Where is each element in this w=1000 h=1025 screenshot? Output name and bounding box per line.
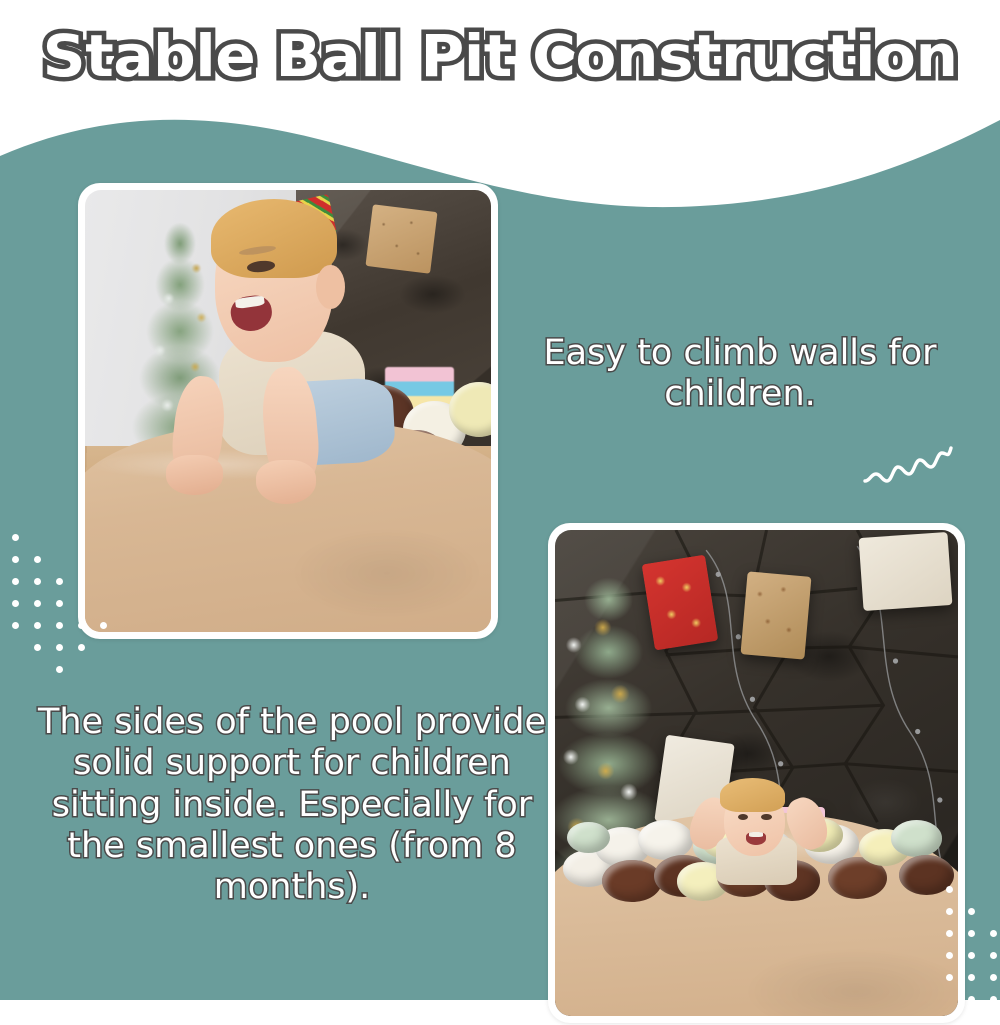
baby-right-hand (256, 460, 317, 504)
baby-hair (720, 778, 784, 812)
page-title-container: Stable Ball Pit Construction (0, 26, 1000, 87)
baby-mouth (746, 832, 766, 845)
baby-right-eye (761, 814, 771, 820)
baby-ear (316, 265, 344, 309)
photo-baby-in-ball-pit-image (555, 530, 958, 1016)
caption-sides-of-pool: The sides of the pool provide solid supp… (34, 702, 550, 908)
photo-baby-climbing-wall-image (85, 190, 491, 632)
gift-box-kraft (366, 204, 438, 273)
gift-box-white (859, 532, 953, 611)
squiggle-icon (862, 443, 954, 487)
caption-easy-to-climb: Easy to climb walls for children. (508, 333, 972, 416)
baby-left-hand (166, 455, 223, 495)
gift-box-kraft (741, 571, 812, 659)
page-title: Stable Ball Pit Construction (43, 26, 958, 87)
gift-box-red (641, 555, 718, 651)
photo-baby-climbing-wall (78, 183, 498, 639)
photo-baby-in-ball-pit (548, 523, 965, 1023)
